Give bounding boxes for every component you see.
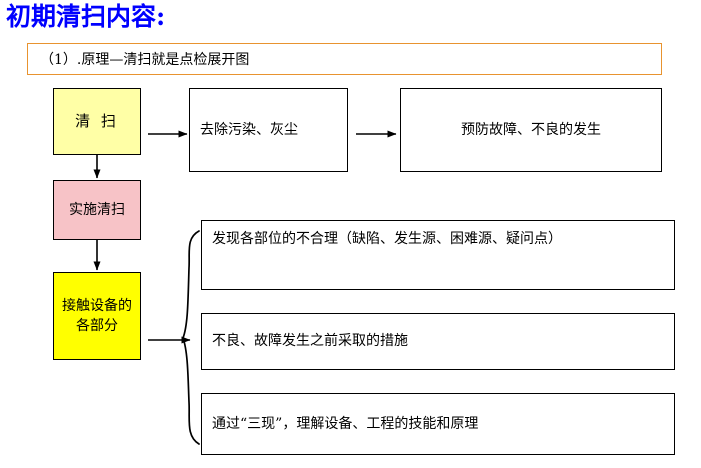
curly-brace [183, 231, 199, 444]
section-header-label: （1）.原理—清扫就是点检展开图 [40, 49, 249, 69]
flow-box-qingsao-label: 清 扫 [54, 111, 140, 133]
flow-box-yufang-guzhang[interactable]: 预防故障、不良的发生 [400, 88, 662, 172]
flow-box-faxian-buheli-label: 发现各部位的不合理（缺陷、发生源、困难源、疑问点） [202, 221, 674, 249]
flow-box-buliang-guzhang[interactable]: 不良、故障发生之前采取的措施 [201, 313, 675, 370]
flow-box-jiechu-shebei[interactable]: 接触设备的各部分 [53, 272, 141, 360]
flow-box-buliang-guzhang-label: 不良、故障发生之前采取的措施 [202, 331, 674, 351]
flow-box-faxian-buheli[interactable]: 发现各部位的不合理（缺陷、发生源、困难源、疑问点） [201, 220, 675, 290]
flow-box-jiechu-shebei-label: 接触设备的各部分 [54, 296, 140, 337]
slide-canvas: 初期清扫内容: （1）.原理—清扫就是点检展开图 清 扫 实施清扫 接触设备的各… [0, 0, 701, 468]
flow-box-yufang-guzhang-label: 预防故障、不良的发生 [401, 120, 661, 140]
page-title: 初期清扫内容: [6, 2, 165, 32]
flow-box-quchu-wuran-label: 去除污染、灰尘 [190, 120, 347, 140]
flow-box-quchu-wuran[interactable]: 去除污染、灰尘 [189, 88, 348, 172]
flow-box-shishi-qingsao[interactable]: 实施清扫 [53, 180, 141, 240]
flow-box-tongguo-sanxian-label: 通过“三现”，理解设备、工程的技能和原理 [202, 414, 674, 434]
flow-box-tongguo-sanxian[interactable]: 通过“三现”，理解设备、工程的技能和原理 [201, 393, 675, 455]
section-header-bar: （1）.原理—清扫就是点检展开图 [27, 43, 662, 75]
flow-box-shishi-qingsao-label: 实施清扫 [54, 200, 140, 220]
flow-box-qingsao[interactable]: 清 扫 [53, 88, 141, 155]
